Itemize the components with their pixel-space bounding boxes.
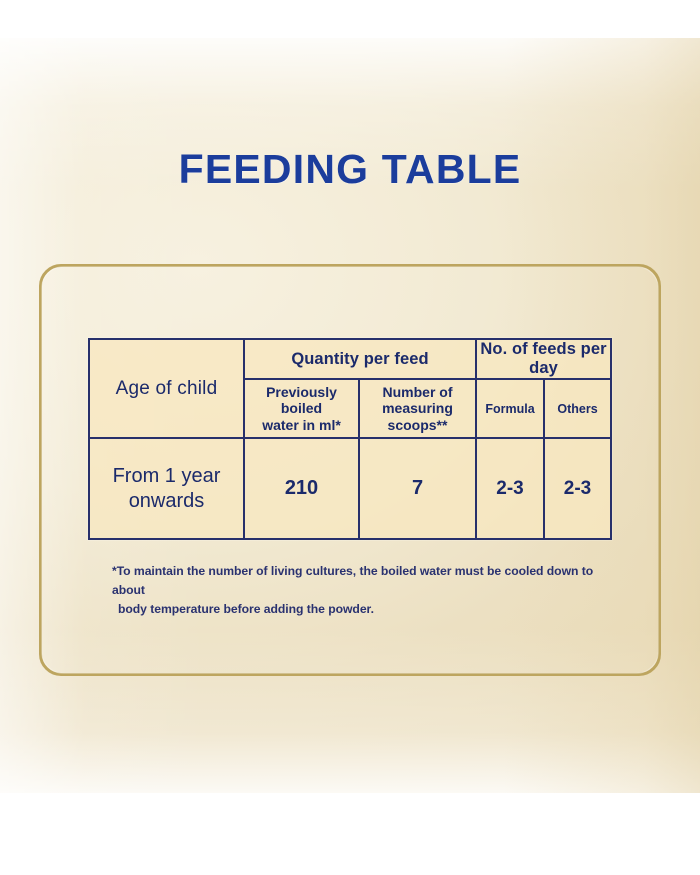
header-number-of-measuring-scoops: Number of measuring scoops** <box>359 379 476 438</box>
feeding-table-image: FEEDING TABLE Age of child Quantity per … <box>0 0 700 875</box>
feeding-table: Age of child Quantity per feed No. of fe… <box>88 338 612 540</box>
footnote-line-2: body temperature before adding the powde… <box>112 600 617 619</box>
footnote: *To maintain the number of living cultur… <box>112 562 617 619</box>
table-body: From 1 year onwards 210 7 2-3 2-3 <box>89 438 611 539</box>
header-formula: Formula <box>476 379 544 438</box>
header-scoops-line2: measuring scoops** <box>382 400 453 433</box>
table-header-row-groups: Age of child Quantity per feed No. of fe… <box>89 339 611 379</box>
header-quantity-per-feed: Quantity per feed <box>244 339 476 379</box>
header-scoops-line1: Number of <box>383 384 453 400</box>
header-previously-boiled-water: Previously boiled water in ml* <box>244 379 359 438</box>
header-no-of-feeds-per-day: No. of feeds per day <box>476 339 611 379</box>
table-row: From 1 year onwards 210 7 2-3 2-3 <box>89 438 611 539</box>
cell-feeds-formula: 2-3 <box>476 438 544 539</box>
footnote-line-1: *To maintain the number of living cultur… <box>112 564 593 597</box>
cell-scoops: 7 <box>359 438 476 539</box>
header-water-line1: Previously boiled <box>266 384 337 417</box>
header-age-of-child: Age of child <box>89 339 244 438</box>
page-title: FEEDING TABLE <box>0 146 700 193</box>
table-header: Age of child Quantity per feed No. of fe… <box>89 339 611 438</box>
cell-feeds-others: 2-3 <box>544 438 611 539</box>
cell-age-line1: From 1 year <box>113 465 221 487</box>
cell-water-ml: 210 <box>244 438 359 539</box>
header-water-line2: water in ml* <box>262 417 341 433</box>
cell-age-of-child: From 1 year onwards <box>89 438 244 539</box>
cell-age-line2: onwards <box>129 490 205 512</box>
header-others: Others <box>544 379 611 438</box>
